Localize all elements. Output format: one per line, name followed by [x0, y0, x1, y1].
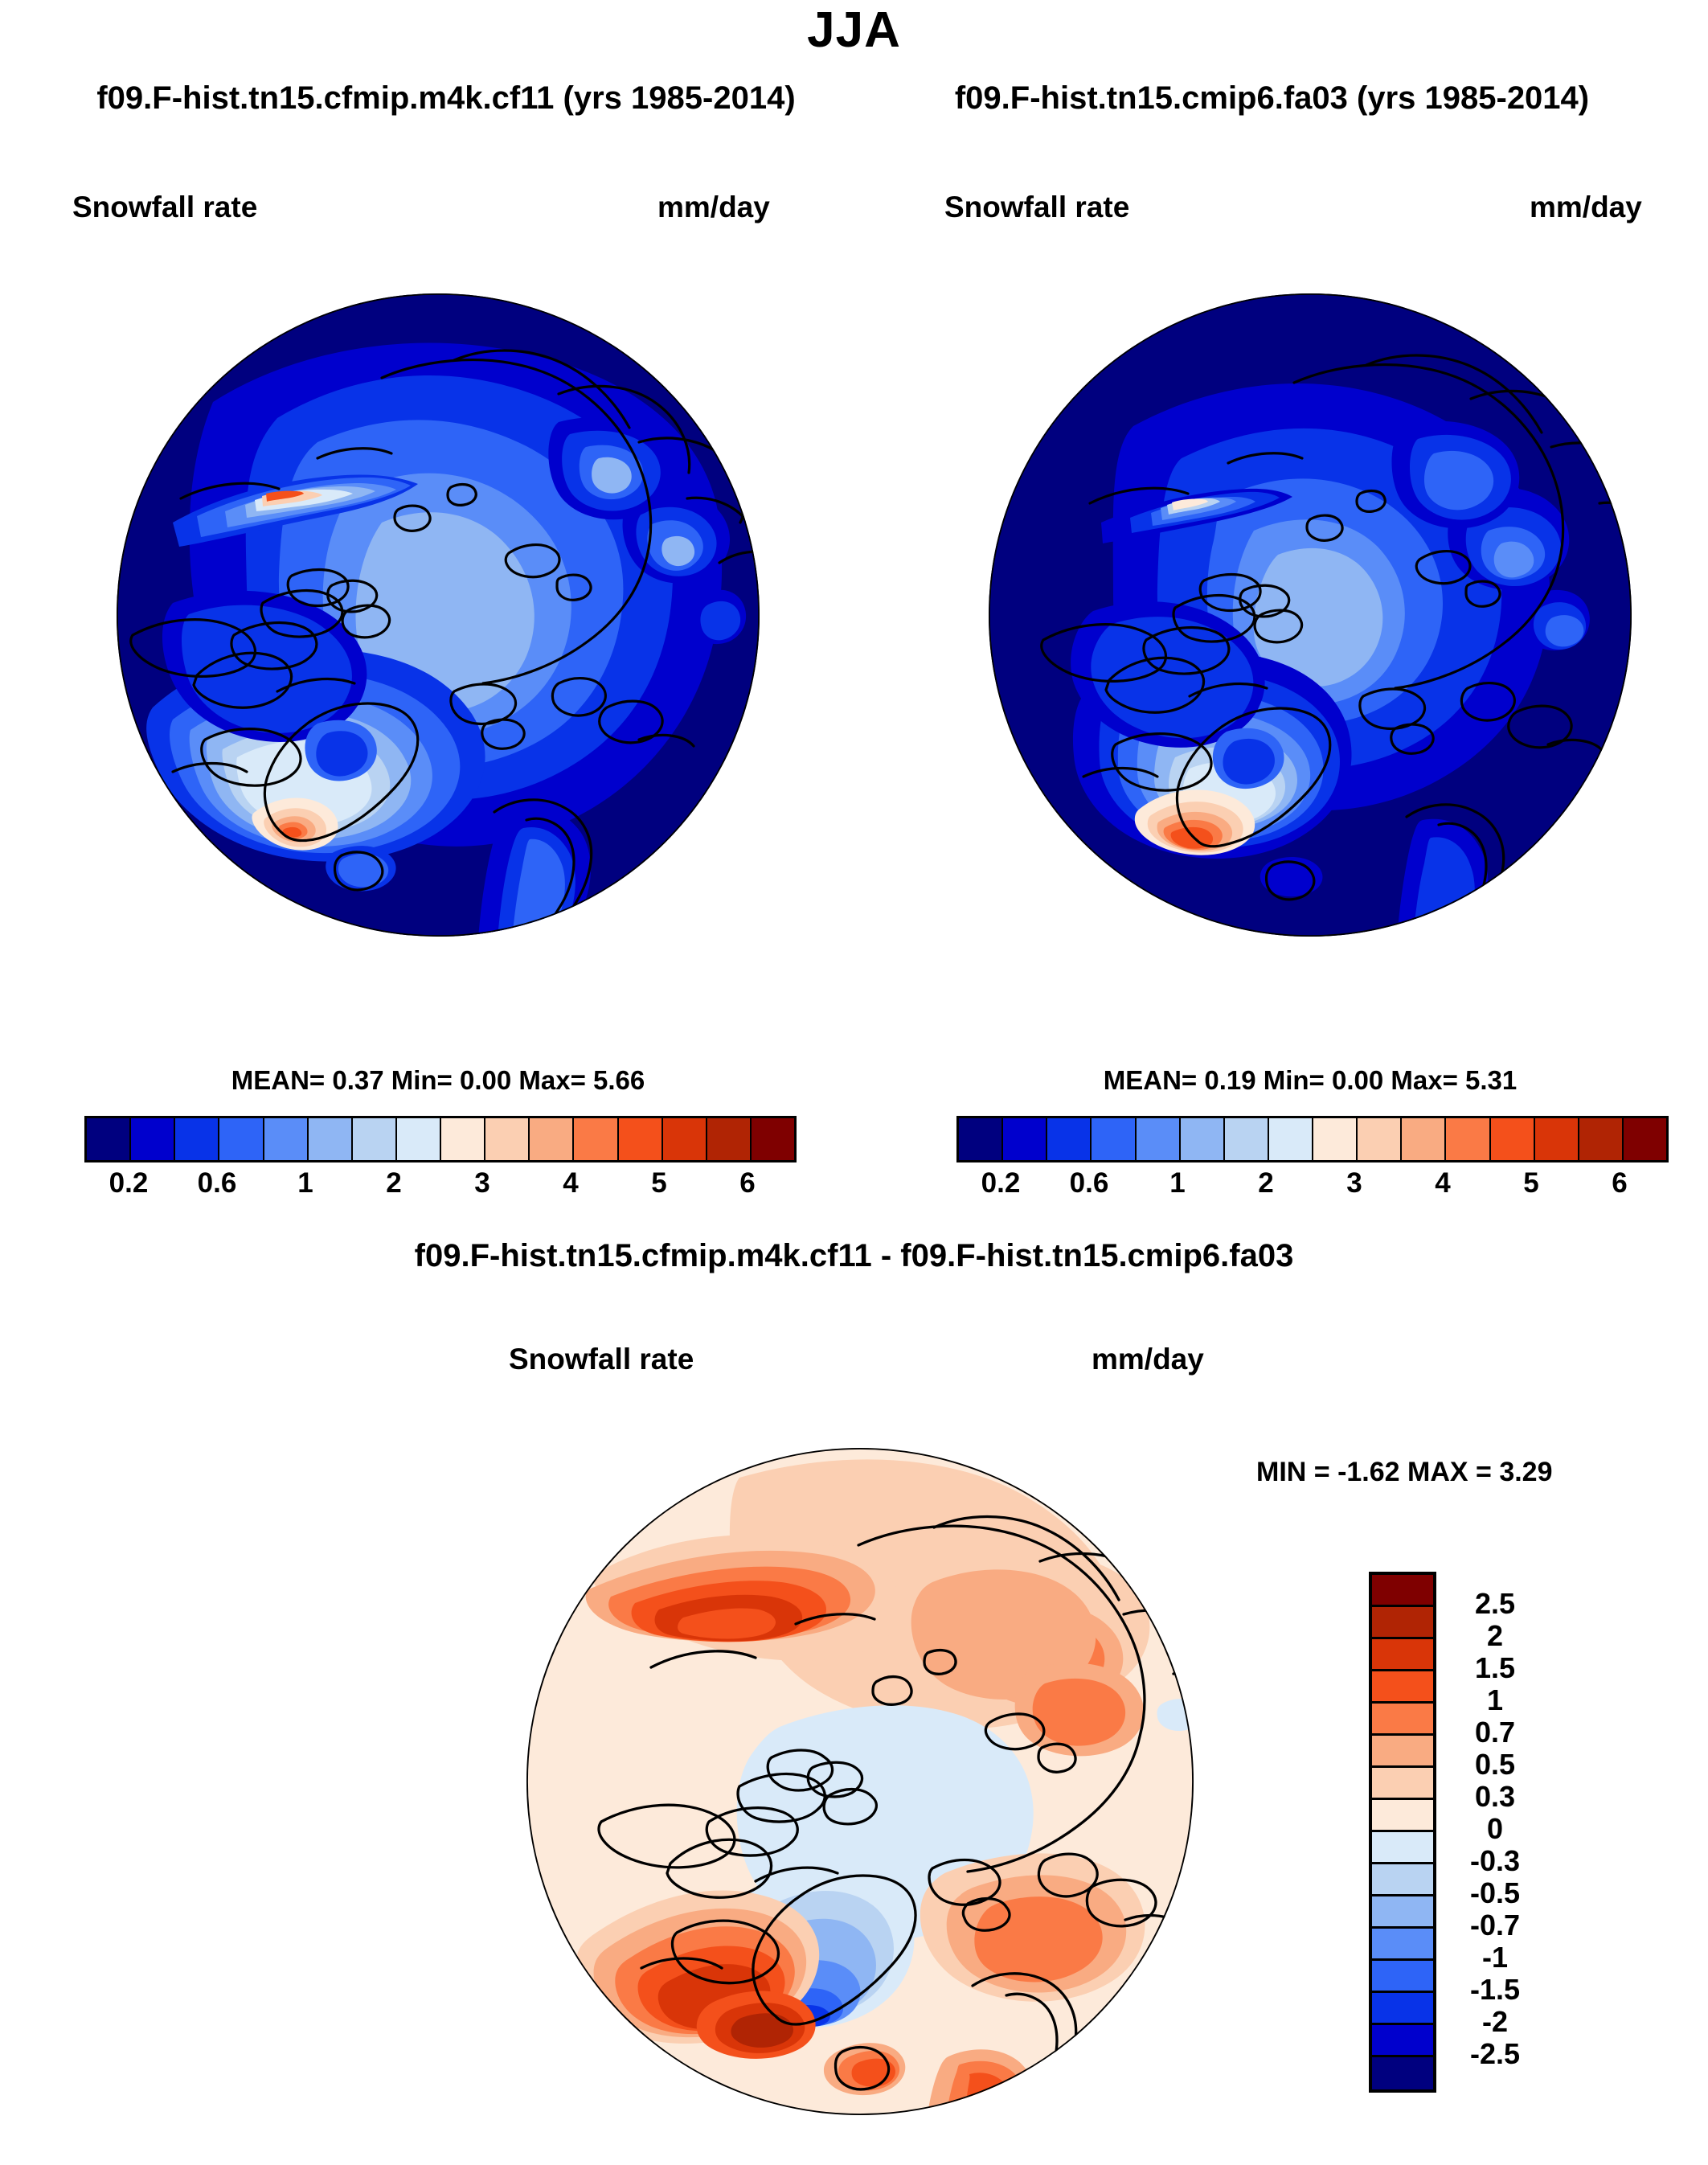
colorbar-cell-13	[1535, 1118, 1579, 1160]
diff-colorbar-tick-0.7: 0.7	[1447, 1716, 1543, 1749]
stats-case2: MEAN= 0.19 Min= 0.00 Max= 5.31	[948, 1065, 1672, 1096]
diff-colorbar-tick-0.5: 0.5	[1447, 1748, 1543, 1782]
colorbar-cell-5	[1181, 1118, 1225, 1160]
colorbar-cell-12	[619, 1118, 663, 1160]
colorbar-case1	[84, 1116, 797, 1162]
colorbar-tick-5: 5	[1523, 1167, 1538, 1199]
colorbar-cell-6	[1225, 1118, 1269, 1160]
colorbar-cell-3	[1092, 1118, 1136, 1160]
colorbar-cell-11	[1446, 1118, 1490, 1160]
diff-colorbar-tick-2: 2	[1447, 1619, 1543, 1653]
diff-colorbar-cell-12	[1372, 1961, 1433, 1993]
diff-variable-label: Snowfall rate	[509, 1343, 694, 1376]
colorbar-cell-2	[175, 1118, 219, 1160]
diff-colorbar-tick-0.3: 0.3	[1447, 1780, 1543, 1814]
colorbar-difference-labels: 2.521.510.70.50.30-0.3-0.5-0.7-1-1.5-2-2…	[1447, 1572, 1559, 2086]
diff-colorbar-cell-14	[1372, 2025, 1433, 2057]
left-variable-label: Snowfall rate	[72, 191, 257, 224]
colorbar-cell-1	[131, 1118, 175, 1160]
diff-colorbar-cell-6	[1372, 1768, 1433, 1800]
diff-colorbar-cell-8	[1372, 1832, 1433, 1864]
colorbar-cell-10	[1402, 1118, 1446, 1160]
diff-colorbar-cell-9	[1372, 1864, 1433, 1896]
colorbar-tick-5: 5	[651, 1167, 666, 1199]
diff-colorbar-cell-11	[1372, 1929, 1433, 1961]
colorbar-cell-8	[1313, 1118, 1358, 1160]
diff-colorbar-cell-15	[1372, 2057, 1433, 2089]
colorbar-tick-4: 4	[563, 1167, 578, 1199]
colorbar-cell-2	[1047, 1118, 1092, 1160]
diff-colorbar-tick--2: -2	[1447, 2005, 1543, 2039]
colorbar-cell-4	[1137, 1118, 1181, 1160]
colorbar-cell-14	[707, 1118, 752, 1160]
colorbar-case1-labels: 0.20.6123456	[84, 1167, 792, 1204]
colorbar-tick-2: 2	[386, 1167, 401, 1199]
colorbar-cell-4	[264, 1118, 309, 1160]
diff-colorbar-tick--2.5: -2.5	[1447, 2037, 1543, 2071]
diff-colorbar-tick--1.5: -1.5	[1447, 1973, 1543, 2007]
colorbar-tick-0.2: 0.2	[981, 1167, 1021, 1199]
stats-case1: MEAN= 0.37 Min= 0.00 Max= 5.66	[76, 1065, 800, 1096]
diff-minmax-stats: MIN = -1.62 MAX = 3.29	[1256, 1457, 1553, 1488]
colorbar-cell-1	[1003, 1118, 1047, 1160]
colorbar-cell-9	[485, 1118, 530, 1160]
diff-colorbar-cell-3	[1372, 1671, 1433, 1704]
diff-colorbar-cell-0	[1372, 1575, 1433, 1607]
colorbar-cell-12	[1491, 1118, 1535, 1160]
colorbar-tick-3: 3	[1346, 1167, 1362, 1199]
diff-colorbar-tick--0.3: -0.3	[1447, 1844, 1543, 1878]
diff-colorbar-cell-4	[1372, 1704, 1433, 1736]
colorbar-cell-7	[1269, 1118, 1313, 1160]
colorbar-tick-6: 6	[1612, 1167, 1627, 1199]
diff-colorbar-cell-7	[1372, 1800, 1433, 1832]
right-units-label: mm/day	[1530, 191, 1642, 224]
case-title-right: f09.F-hist.tn15.cmip6.fa03 (yrs 1985-201…	[836, 80, 1708, 117]
diff-colorbar-tick-1: 1	[1447, 1683, 1543, 1717]
colorbar-cell-6	[353, 1118, 397, 1160]
right-variable-label: Snowfall rate	[944, 191, 1129, 224]
diff-colorbar-tick--0.7: -0.7	[1447, 1909, 1543, 1942]
season-title: JJA	[0, 2, 1708, 59]
colorbar-tick-6: 6	[739, 1167, 755, 1199]
diff-colorbar-cell-1	[1372, 1607, 1433, 1639]
diff-colorbar-cell-10	[1372, 1896, 1433, 1929]
colorbar-cell-11	[574, 1118, 618, 1160]
colorbar-tick-1: 1	[1169, 1167, 1185, 1199]
diff-colorbar-tick-2.5: 2.5	[1447, 1587, 1543, 1621]
case-title-left: f09.F-hist.tn15.cfmip.m4k.cf11 (yrs 1985…	[8, 80, 884, 117]
diff-units-label: mm/day	[1092, 1343, 1204, 1376]
colorbar-cell-14	[1579, 1118, 1624, 1160]
colorbar-tick-2: 2	[1258, 1167, 1273, 1199]
diff-colorbar-tick--0.5: -0.5	[1447, 1876, 1543, 1910]
diff-colorbar-cell-5	[1372, 1736, 1433, 1768]
diff-colorbar-tick-1.5: 1.5	[1447, 1651, 1543, 1685]
colorbar-case2-labels: 0.20.6123456	[956, 1167, 1664, 1204]
colorbar-cell-10	[530, 1118, 574, 1160]
colorbar-tick-4: 4	[1435, 1167, 1450, 1199]
colorbar-tick-3: 3	[474, 1167, 489, 1199]
diff-colorbar-tick--1: -1	[1447, 1941, 1543, 1974]
colorbar-cell-13	[663, 1118, 707, 1160]
colorbar-tick-0.2: 0.2	[109, 1167, 149, 1199]
diff-colorbar-tick-0: 0	[1447, 1812, 1543, 1846]
colorbar-cell-8	[441, 1118, 485, 1160]
map-case1	[76, 257, 800, 965]
map-case2	[948, 257, 1672, 965]
colorbar-difference	[1369, 1572, 1436, 2093]
colorbar-tick-0.6: 0.6	[198, 1167, 237, 1199]
colorbar-case2	[956, 1116, 1669, 1162]
colorbar-cell-15	[752, 1118, 794, 1160]
colorbar-cell-7	[397, 1118, 441, 1160]
diff-colorbar-cell-13	[1372, 1993, 1433, 2025]
colorbar-cell-3	[219, 1118, 264, 1160]
colorbar-cell-5	[309, 1118, 353, 1160]
colorbar-cell-9	[1358, 1118, 1402, 1160]
diff-title: f09.F-hist.tn15.cfmip.m4k.cf11 - f09.F-h…	[0, 1238, 1708, 1274]
colorbar-cell-0	[959, 1118, 1003, 1160]
diff-colorbar-cell-2	[1372, 1639, 1433, 1671]
colorbar-tick-0.6: 0.6	[1070, 1167, 1109, 1199]
colorbar-tick-1: 1	[297, 1167, 313, 1199]
left-units-label: mm/day	[657, 191, 770, 224]
colorbar-cell-0	[87, 1118, 131, 1160]
map-difference	[498, 1405, 1238, 2153]
colorbar-cell-15	[1624, 1118, 1666, 1160]
